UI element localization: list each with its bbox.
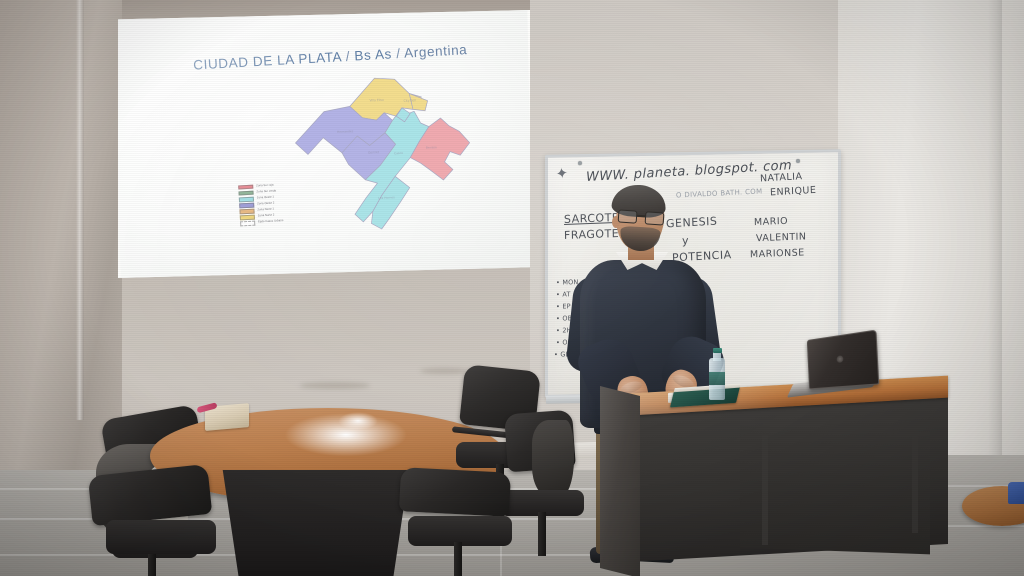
- wall-corner-edge: [76, 0, 84, 420]
- map-legend: Zona Sur roja Zona Sur verde Zona Oeste …: [238, 182, 284, 227]
- lens-left: [618, 209, 638, 223]
- map-label: Berisso: [426, 145, 437, 150]
- chair-foreground-left[interactable]: [90, 470, 250, 576]
- whiteboard-name-1: NATALIA: [760, 172, 803, 184]
- projection-screen: CIUDAD DE LA PLATA / Bs As / Argentina: [118, 10, 530, 278]
- desk-leg: [762, 435, 768, 545]
- chair-backrest[interactable]: [399, 467, 511, 517]
- chair-backrest[interactable]: [88, 464, 213, 526]
- whiteboard-name-4: VALENTIN: [756, 232, 807, 244]
- map-label: Villa Elisa: [369, 98, 384, 103]
- laptop[interactable]: [790, 335, 882, 399]
- bottle-cap[interactable]: [713, 348, 722, 353]
- legend-swatch: [239, 203, 254, 208]
- classroom-photo: CIUDAD DE LA PLATA / Bs As / Argentina: [0, 0, 1024, 576]
- laptop-lid[interactable]: [807, 330, 879, 390]
- map-label: Gonnet: [368, 150, 380, 155]
- desk-side-panel: [600, 386, 640, 576]
- wall-mark: [300, 382, 370, 389]
- map-label: Casco: [394, 151, 403, 155]
- desk-leg: [912, 429, 918, 533]
- desk-modesty-panel: [740, 426, 930, 555]
- table-glare: [338, 412, 378, 430]
- legend-swatch: [240, 215, 255, 220]
- map-svg: Villa Elisa City Bell Hernandez Gonnet C…: [290, 69, 478, 247]
- round-side-table[interactable]: [962, 486, 1024, 546]
- map-label: Hernandez: [337, 129, 354, 134]
- chair-foreground[interactable]: [400, 470, 540, 576]
- legend-swatch: [239, 209, 254, 214]
- whiteboard-name-5: MARIONSE: [750, 248, 805, 260]
- beard: [619, 226, 661, 253]
- legend-label: Zona Norte 2: [258, 215, 275, 219]
- map-label: Los Hornos: [378, 195, 395, 200]
- chair-pole: [454, 542, 462, 576]
- wall-seam: [988, 0, 1002, 470]
- legend-label: Zona Sur roja: [256, 184, 273, 188]
- glasses-bridge: [637, 215, 645, 217]
- legend-label: Ejido Casco Urbano: [258, 220, 283, 224]
- legend-item: Ejido Casco Urbano: [240, 219, 284, 227]
- legend-swatch: [240, 221, 255, 226]
- legend-label: Zona Oeste 2: [257, 202, 274, 206]
- legend-swatch: [238, 184, 253, 189]
- map-label: City Bell: [403, 98, 416, 103]
- legend-label: Zona Oeste 1: [257, 196, 274, 200]
- map-la-plata: Villa Elisa City Bell Hernandez Gonnet C…: [290, 69, 478, 247]
- bottle-label: [709, 372, 725, 385]
- whiteboard-name-3: MARIO: [754, 217, 788, 228]
- magnet[interactable]: [796, 159, 800, 163]
- laptop-logo-icon: [836, 355, 843, 363]
- slide-title: CIUDAD DE LA PLATA / Bs As / Argentina: [193, 42, 468, 73]
- legend-swatch: [238, 190, 253, 195]
- lens-right: [645, 211, 665, 225]
- legend-label: Zona Norte 1: [257, 209, 274, 213]
- blue-object[interactable]: [1008, 482, 1024, 504]
- desk[interactable]: [612, 385, 948, 576]
- paper-bag[interactable]: [205, 403, 249, 431]
- slide: CIUDAD DE LA PLATA / Bs As / Argentina: [115, 6, 532, 282]
- chair-seat[interactable]: [106, 520, 216, 554]
- whiteboard-name-2: ENRIQUE: [770, 186, 817, 198]
- legend-swatch: [239, 197, 254, 202]
- slide-title-region: Bs As: [354, 47, 392, 64]
- slide-title-city: CIUDAD DE LA PLATA: [193, 49, 342, 72]
- legend-label: Zona Sur verde: [256, 190, 276, 194]
- slide-title-country: Argentina: [404, 42, 468, 61]
- water-bottle[interactable]: [709, 348, 725, 400]
